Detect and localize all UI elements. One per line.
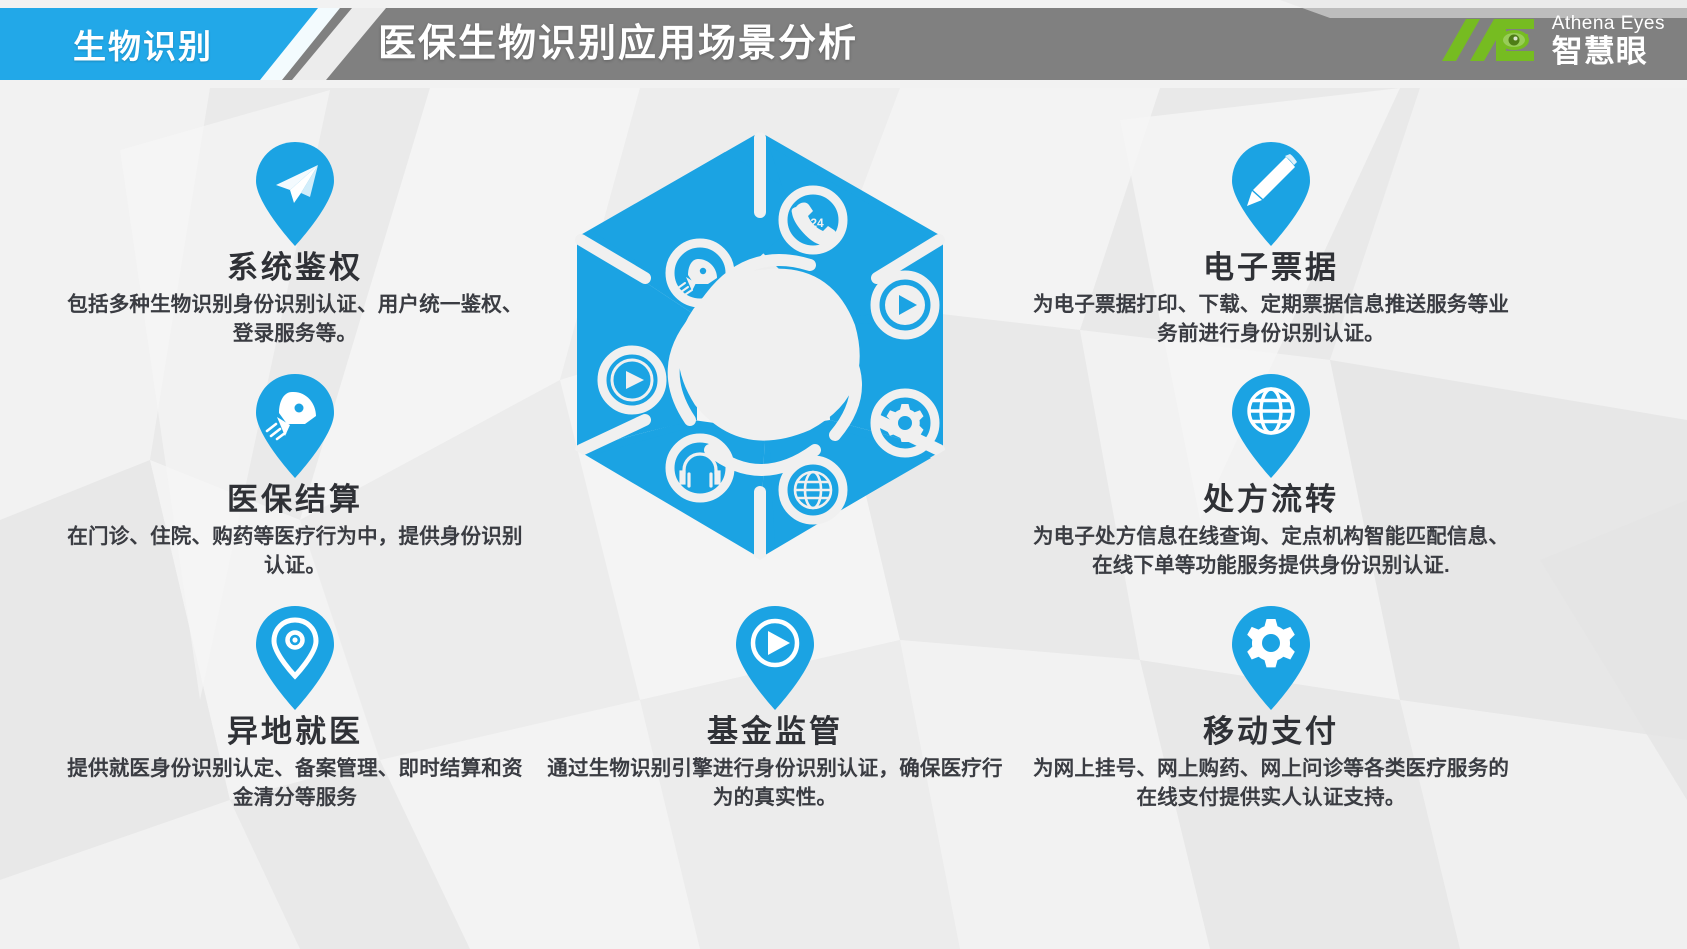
hexagon-pinwheel-graphic: 24 bbox=[525, 120, 995, 600]
card-desc: 通过生物识别引擎进行身份识别认证，确保医疗行为的真实性。 bbox=[545, 754, 1005, 812]
slide-root: 生物识别 医保生物识别应用场景分析 Athena Eyes 智慧眼 bbox=[0, 0, 1687, 949]
brand-name-en: Athena Eyes bbox=[1552, 14, 1665, 33]
card-prescription-circulation[interactable]: 处方流转 为电子处方信息在线查询、定点机构智能匹配信息、在线下单等功能服务提供身… bbox=[1030, 372, 1512, 580]
card-mobile-payment[interactable]: 移动支付 为网上挂号、网上购药、网上问诊等各类医疗服务的在线支付提供实人认证支持… bbox=[1030, 604, 1512, 812]
card-desc: 包括多种生物识别身份识别认证、用户统一鉴权、登录服务等。 bbox=[60, 290, 530, 348]
card-title: 处方流转 bbox=[1030, 482, 1512, 518]
card-desc: 为电子处方信息在线查询、定点机构智能匹配信息、在线下单等功能服务提供身份识别认证… bbox=[1030, 522, 1512, 580]
card-desc: 提供就医身份识别认定、备案管理、即时结算和资金清分等服务 bbox=[60, 754, 530, 812]
badge-24-label: 24 bbox=[810, 216, 824, 230]
brand-logo: Athena Eyes 智慧眼 bbox=[1436, 13, 1665, 67]
card-title: 电子票据 bbox=[1030, 250, 1512, 286]
header-bar: 生物识别 医保生物识别应用场景分析 Athena Eyes 智慧眼 bbox=[0, 0, 1687, 88]
header-tag: 生物识别 bbox=[38, 20, 248, 68]
card-desc: 为电子票据打印、下载、定期票据信息推送服务等业务前进行身份识别认证。 bbox=[1030, 290, 1512, 348]
rocket-icon bbox=[254, 372, 336, 480]
card-remote-treatment[interactable]: 异地就医 提供就医身份识别认定、备案管理、即时结算和资金清分等服务 bbox=[60, 604, 530, 812]
card-title: 移动支付 bbox=[1030, 714, 1512, 750]
brand-text: Athena Eyes 智慧眼 bbox=[1552, 14, 1665, 67]
card-title: 基金监管 bbox=[545, 714, 1005, 750]
brand-name-cn: 智慧眼 bbox=[1552, 36, 1665, 67]
card-desc: 在门诊、住院、购药等医疗行为中，提供身份识别认证。 bbox=[60, 522, 530, 580]
card-desc: 为网上挂号、网上购药、网上问诊等各类医疗服务的在线支付提供实人认证支持。 bbox=[1030, 754, 1512, 812]
card-title: 异地就医 bbox=[60, 714, 530, 750]
play-circle-icon-left bbox=[602, 350, 662, 410]
map-pin-icon bbox=[254, 604, 336, 712]
gear-icon bbox=[1230, 604, 1312, 712]
card-insurance-settlement[interactable]: 医保结算 在门诊、住院、购药等医疗行为中，提供身份识别认证。 bbox=[60, 372, 530, 580]
card-title: 系统鉴权 bbox=[60, 250, 530, 286]
pencil-icon bbox=[1230, 140, 1312, 248]
card-electronic-bill[interactable]: 电子票据 为电子票据打印、下载、定期票据信息推送服务等业务前进行身份识别认证。 bbox=[1030, 140, 1512, 348]
card-fund-supervision[interactable]: 基金监管 通过生物识别引擎进行身份识别认证，确保医疗行为的真实性。 bbox=[545, 604, 1005, 812]
card-title: 医保结算 bbox=[60, 482, 530, 518]
athena-eyes-logo-icon bbox=[1436, 13, 1544, 67]
play-circle-icon bbox=[734, 604, 816, 712]
paper-plane-icon bbox=[254, 140, 336, 248]
globe-icon bbox=[1230, 372, 1312, 480]
page-title: 医保生物识别应用场景分析 bbox=[378, 16, 858, 72]
card-system-auth[interactable]: 系统鉴权 包括多种生物识别身份识别认证、用户统一鉴权、登录服务等。 bbox=[60, 140, 530, 348]
